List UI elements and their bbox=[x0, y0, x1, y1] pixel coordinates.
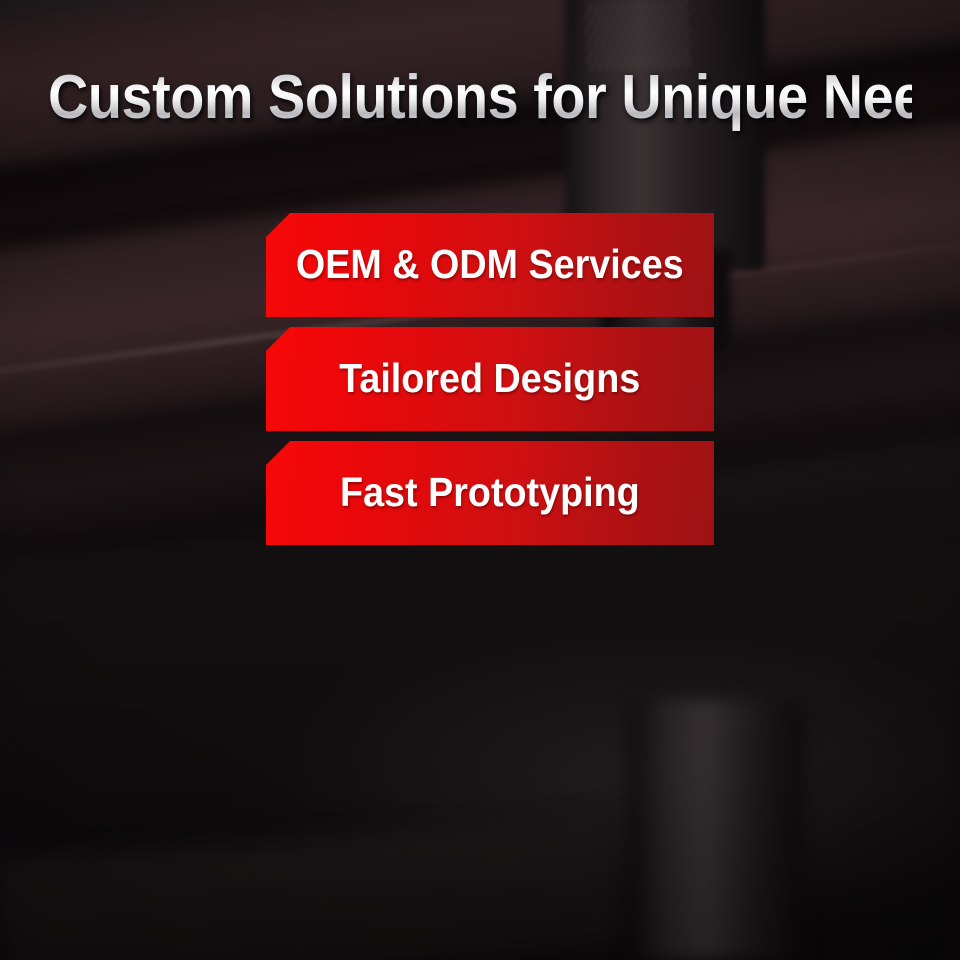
feature-banner-oem-odm-services[interactable]: OEM & ODM Services bbox=[266, 213, 714, 317]
feature-banner-label: OEM & ODM Services bbox=[296, 242, 684, 288]
page-title: Custom Solutions for Unique Needs bbox=[48, 62, 912, 134]
feature-banner-fast-prototyping[interactable]: Fast Prototyping bbox=[266, 441, 714, 545]
feature-banner-list: OEM & ODM Services Tailored Designs Fast… bbox=[266, 213, 714, 545]
feature-banner-label: Tailored Designs bbox=[339, 356, 640, 402]
feature-banner-tailored-designs[interactable]: Tailored Designs bbox=[266, 327, 714, 431]
feature-banner-label: Fast Prototyping bbox=[340, 470, 640, 516]
photo-strip bbox=[0, 600, 960, 840]
promotional-banner: Custom Solutions for Unique Needs OEM & … bbox=[0, 0, 960, 960]
